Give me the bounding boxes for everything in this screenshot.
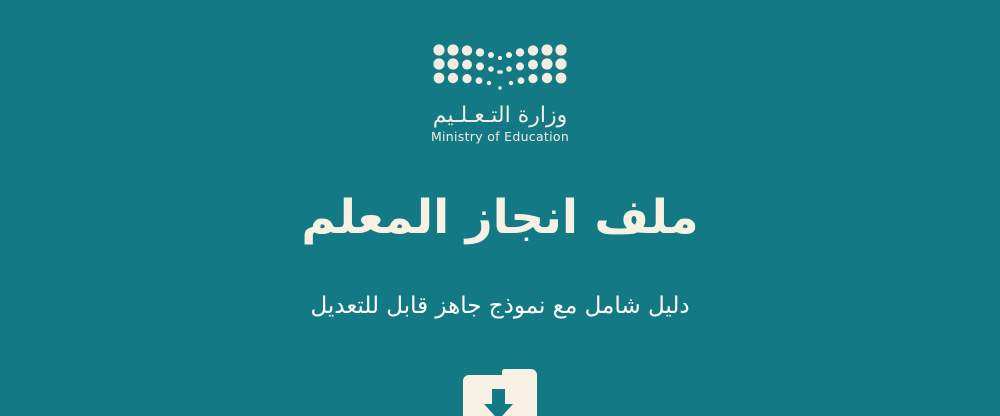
ministry-wordmark-english: Ministry of Education [431,130,569,144]
education-portfolio-banner: وزارة التـعـلـيم Ministry of Education م… [0,0,1000,416]
saudi-ministry-of-education-dot-mark-icon [433,44,567,96]
download-button[interactable] [460,369,540,416]
page-subtitle: دليل شامل مع نموذج جاهز قابل للتعديل [310,293,689,321]
ministry-logo: وزارة التـعـلـيم Ministry of Education [431,44,569,144]
page-title: ملف انجاز المعلم [301,190,698,245]
folder-download-icon [460,369,540,416]
ministry-wordmark-arabic: وزارة التـعـلـيم [433,104,567,127]
